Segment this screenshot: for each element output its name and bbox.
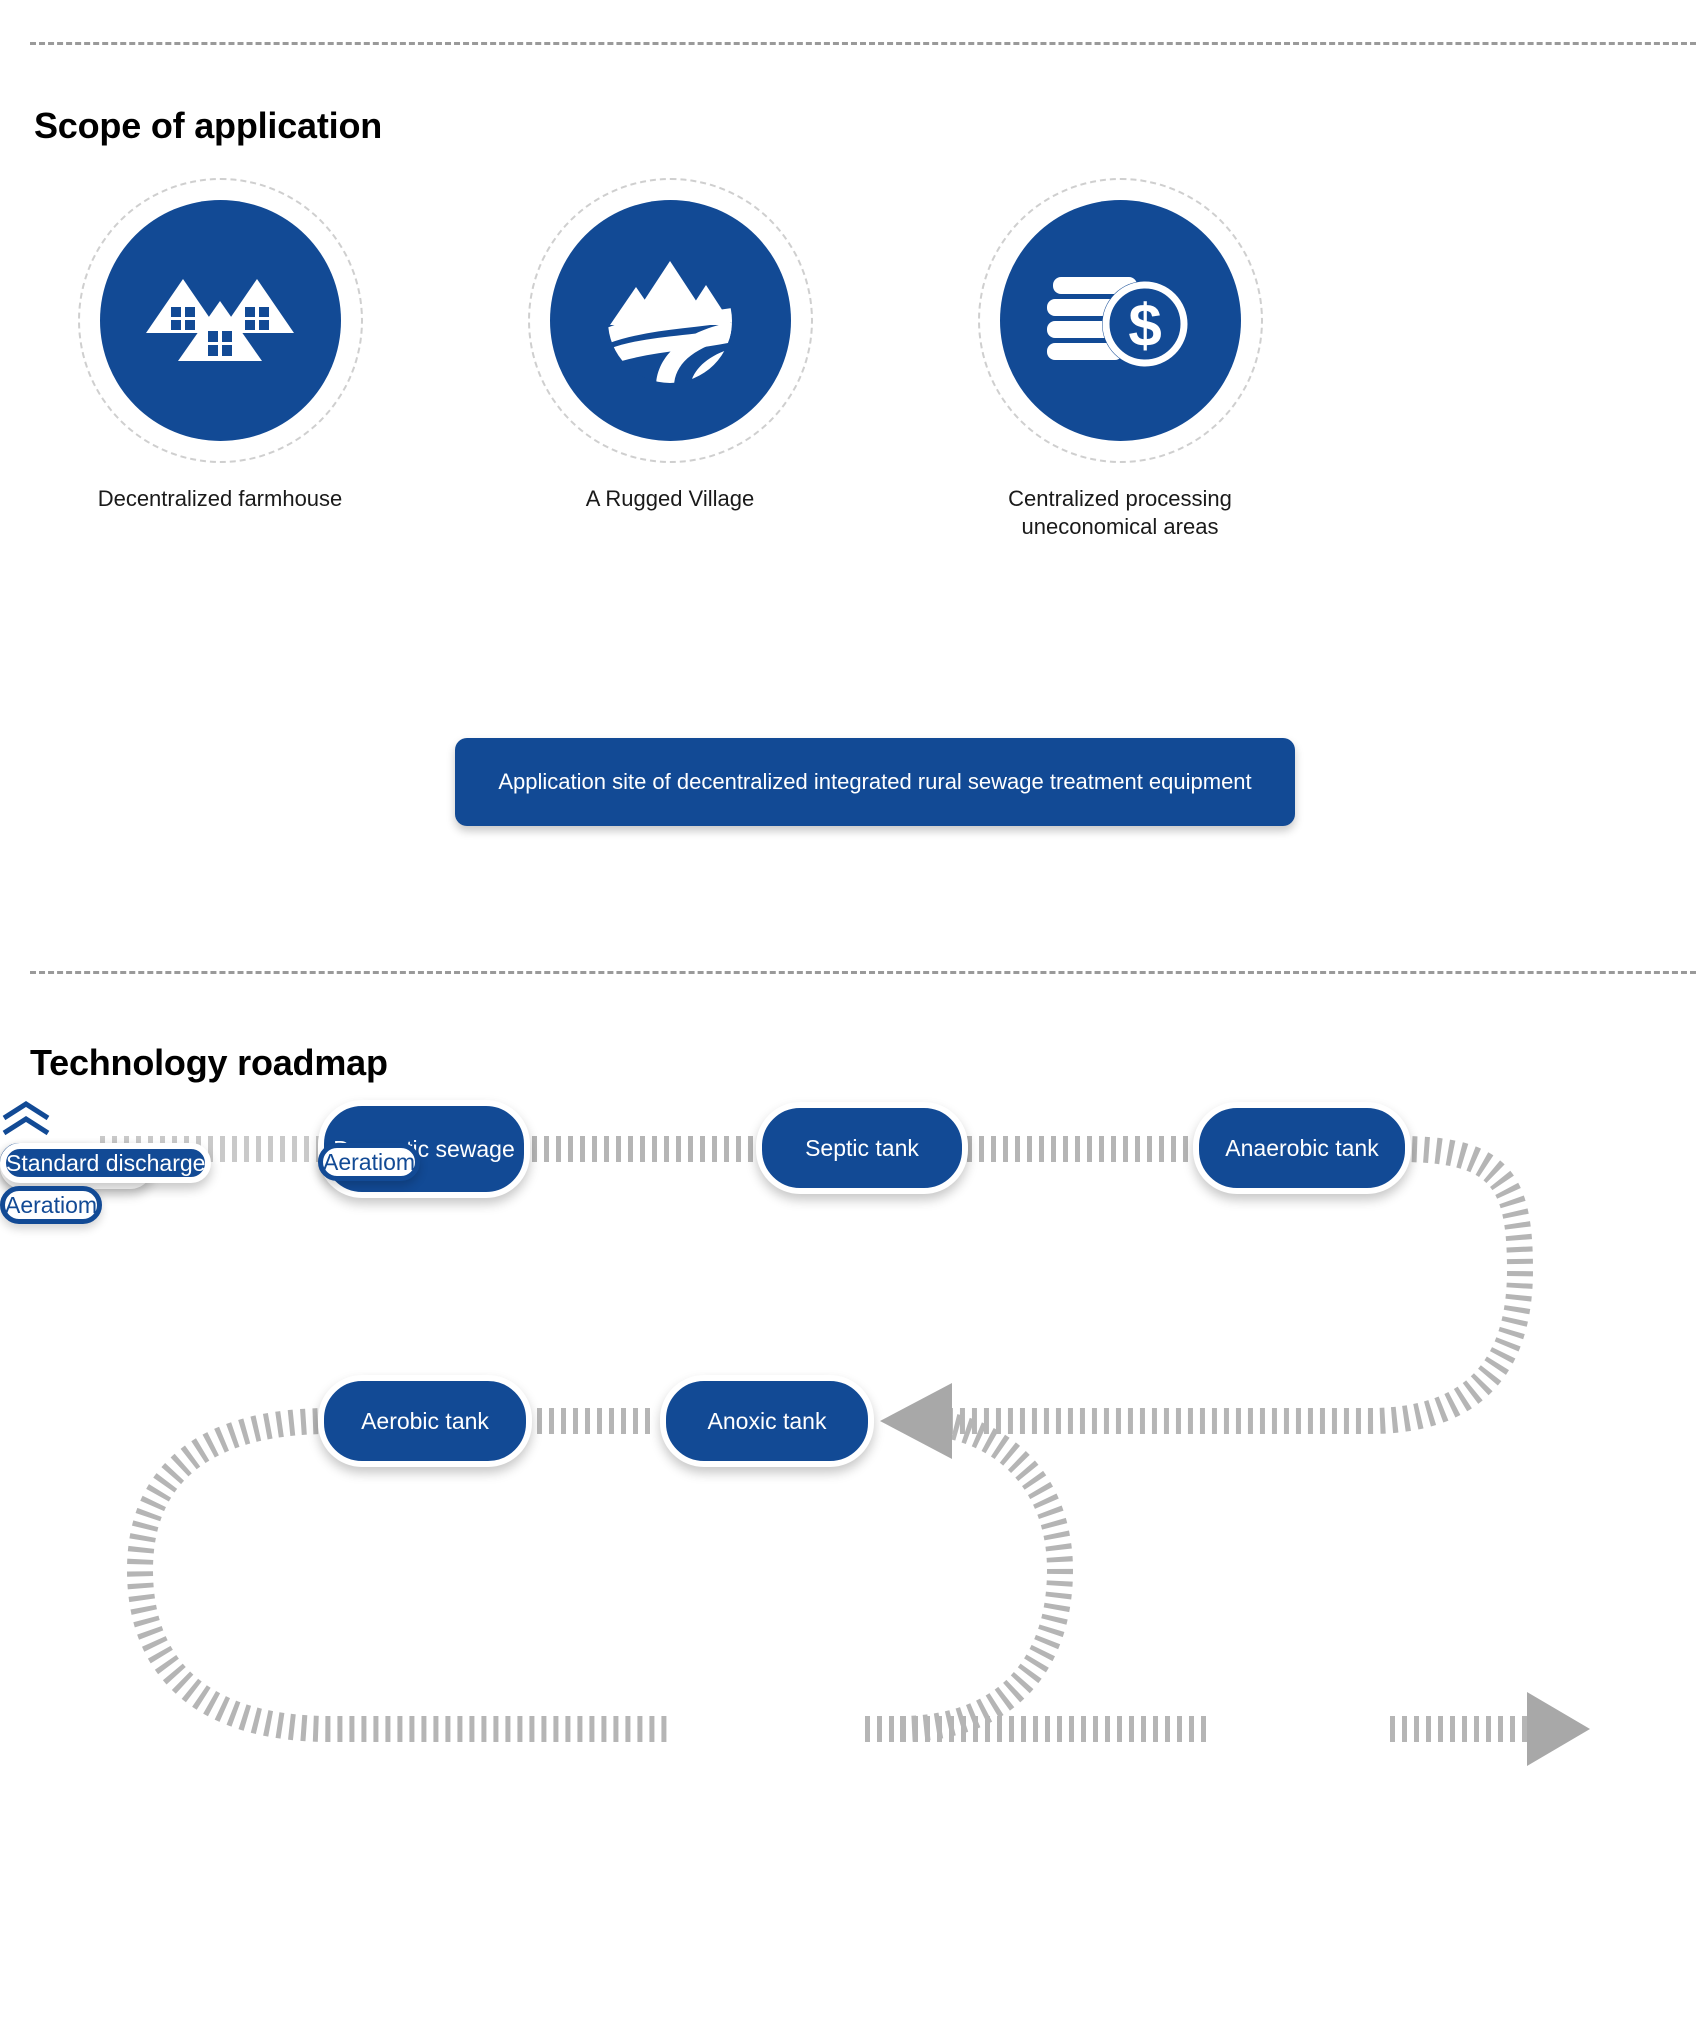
node-label: Aerobic tank [361, 1407, 489, 1435]
technology-roadmap-diagram: .conn { fill: none; stroke: #b5b5b5; str… [0, 1100, 1696, 2030]
node-anoxic-tank[interactable]: Anoxic tank [660, 1375, 874, 1467]
scope-item-label: Decentralized farmhouse [50, 485, 390, 513]
roadmap-section-title: Technology roadmap [30, 1042, 388, 1084]
node-septic-tank[interactable]: Septic tank [756, 1102, 968, 1194]
scope-item-label: Centralized processing uneconomical area… [950, 485, 1290, 541]
connector-aerobic-to-tff [140, 1421, 672, 1729]
node-label: Anoxic tank [708, 1407, 827, 1435]
section-divider-top [30, 42, 1696, 45]
arrowhead-outflow [1527, 1692, 1590, 1766]
node-aerobic-tank[interactable]: Aerobic tank [318, 1375, 532, 1467]
svg-text:$: $ [1128, 292, 1161, 359]
node-label: Aeratiom [5, 1191, 97, 1219]
houses-icon [100, 200, 341, 441]
node-label: Anaerobic tank [1225, 1134, 1378, 1162]
scope-item-decentralized-farmhouse: Decentralized farmhouse [50, 178, 390, 513]
scope-item-rugged-village: A Rugged Village [500, 178, 840, 513]
node-aeration-aerobic[interactable]: Aeratiom [318, 1143, 420, 1181]
scope-icon-badge [528, 178, 813, 463]
node-standard-discharge[interactable]: Standard discharge [0, 1143, 211, 1183]
scope-item-label: A Rugged Village [500, 485, 840, 513]
section-divider-middle [30, 971, 1696, 974]
village-mountain-field-icon [550, 200, 791, 441]
roadmap-connectors: .conn { fill: none; stroke: #b5b5b5; str… [0, 1100, 1696, 2030]
node-aeration-tff[interactable]: Aeratiom [0, 1186, 102, 1224]
arrowhead-into-anoxic [880, 1383, 952, 1459]
node-label: Aeratiom [323, 1148, 415, 1176]
node-anaerobic-tank[interactable]: Anaerobic tank [1193, 1102, 1411, 1194]
application-site-banner-text: Application site of decentralized integr… [498, 767, 1251, 797]
coins-dollar-icon: $ [1000, 200, 1241, 441]
scope-section-title: Scope of application [34, 105, 382, 147]
scope-icon-badge: $ [978, 178, 1263, 463]
connector-anaerobic-to-anoxic [905, 1149, 1520, 1421]
scope-item-centralized-uneconomical: $ Centralized processing uneconomical ar… [950, 178, 1290, 541]
node-label: Septic tank [805, 1134, 919, 1162]
scope-icon-badge [78, 178, 363, 463]
connector-backflow [900, 1421, 1060, 1729]
application-site-banner: Application site of decentralized integr… [455, 738, 1295, 826]
scope-items-row: Decentralized farmhouse [0, 178, 1696, 598]
node-label: Standard discharge [6, 1149, 205, 1177]
